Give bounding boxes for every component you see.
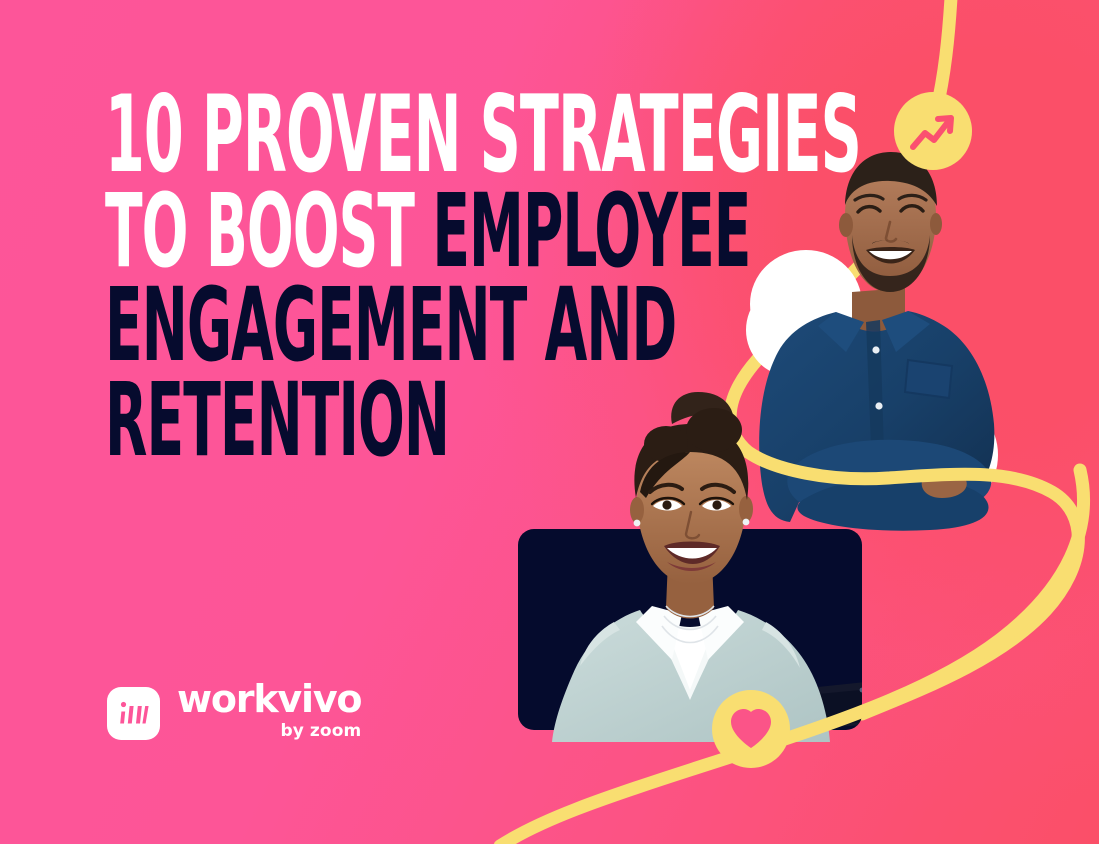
- brand-tagline: by zoom: [280, 723, 361, 740]
- workvivo-logo[interactable]: workvivo by zoom: [107, 680, 361, 740]
- title-line-2: TO BOOST EMPLOYEE: [105, 185, 489, 280]
- workvivo-w-mark: [107, 687, 160, 740]
- brand-name: workvivo: [177, 680, 361, 718]
- trending-up-badge: [894, 92, 972, 170]
- title-line-4: RETENTION: [105, 374, 489, 469]
- workvivo-wordmark: workvivo by zoom: [177, 680, 361, 740]
- ebook-cover: 10 PROVEN STRATEGIES TO BOOST EMPLOYEE E…: [0, 0, 1099, 844]
- title-line-3: ENGAGEMENT AND: [105, 279, 489, 374]
- title-line-1: 10 PROVEN STRATEGIES: [105, 86, 489, 185]
- page-title: 10 PROVEN STRATEGIES TO BOOST EMPLOYEE E…: [105, 86, 745, 469]
- heart-badge: [712, 690, 790, 768]
